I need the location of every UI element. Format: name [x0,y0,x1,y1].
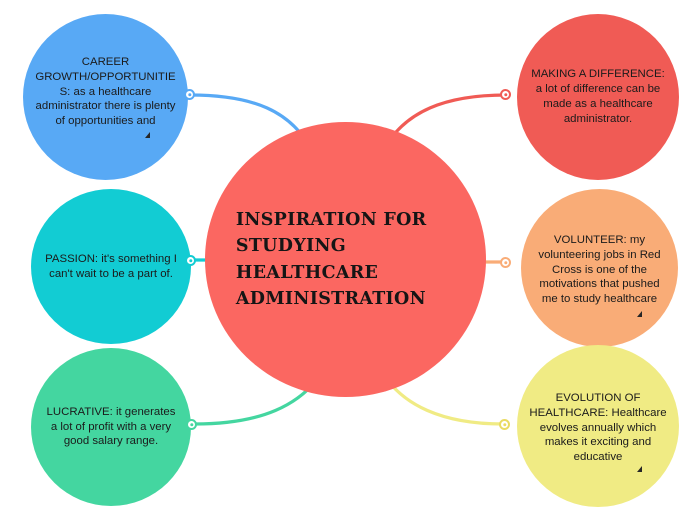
branch-label-volunteer: VOLUNTEER: my volunteering jobs in Red C… [532,233,667,307]
branch-node-passion[interactable]: PASSION: it's something I can't wait to … [31,189,191,344]
connector-endpoint-icon-passion[interactable] [185,255,196,266]
branch-node-lucrative[interactable]: LUCRATIVE: it generates a lot of profit … [31,348,191,506]
text-overflow-triangle-icon [637,311,642,317]
branch-label-evolution-of-healthcare: EVOLUTION OF HEALTHCARE: Healthcare evol… [528,391,667,465]
mindmap-canvas: INSPIRATION FOR STUDYING HEALTHCARE ADMI… [0,0,696,520]
branch-label-making-a-difference: MAKING A DIFFERENCE: a lot of difference… [528,67,667,126]
connector-endpoint-icon-volunteer[interactable] [500,257,511,268]
branch-node-career-growth[interactable]: CAREER GROWTH/OPPORTUNITIES: as a health… [23,14,188,180]
connector-endpoint-icon-lucrative[interactable] [186,419,197,430]
text-overflow-triangle-icon [145,132,150,138]
branch-node-evolution-of-healthcare[interactable]: EVOLUTION OF HEALTHCARE: Healthcare evol… [517,345,679,507]
branch-label-passion: PASSION: it's something I can't wait to … [42,252,180,282]
central-topic-label: INSPIRATION FOR STUDYING HEALTHCARE ADMI… [236,207,455,312]
connector-endpoint-icon-career-growth[interactable] [184,89,195,100]
text-overflow-triangle-icon [637,466,642,472]
branch-node-making-a-difference[interactable]: MAKING A DIFFERENCE: a lot of difference… [517,14,679,180]
branch-label-lucrative: LUCRATIVE: it generates a lot of profit … [42,405,180,449]
connector-endpoint-icon-evolution-of-healthcare[interactable] [499,419,510,430]
branch-label-career-growth: CAREER GROWTH/OPPORTUNITIES: as a health… [35,55,177,129]
connector-endpoint-icon-making-a-difference[interactable] [500,89,511,100]
branch-node-volunteer[interactable]: VOLUNTEER: my volunteering jobs in Red C… [521,189,678,347]
central-topic-node[interactable]: INSPIRATION FOR STUDYING HEALTHCARE ADMI… [205,122,486,397]
